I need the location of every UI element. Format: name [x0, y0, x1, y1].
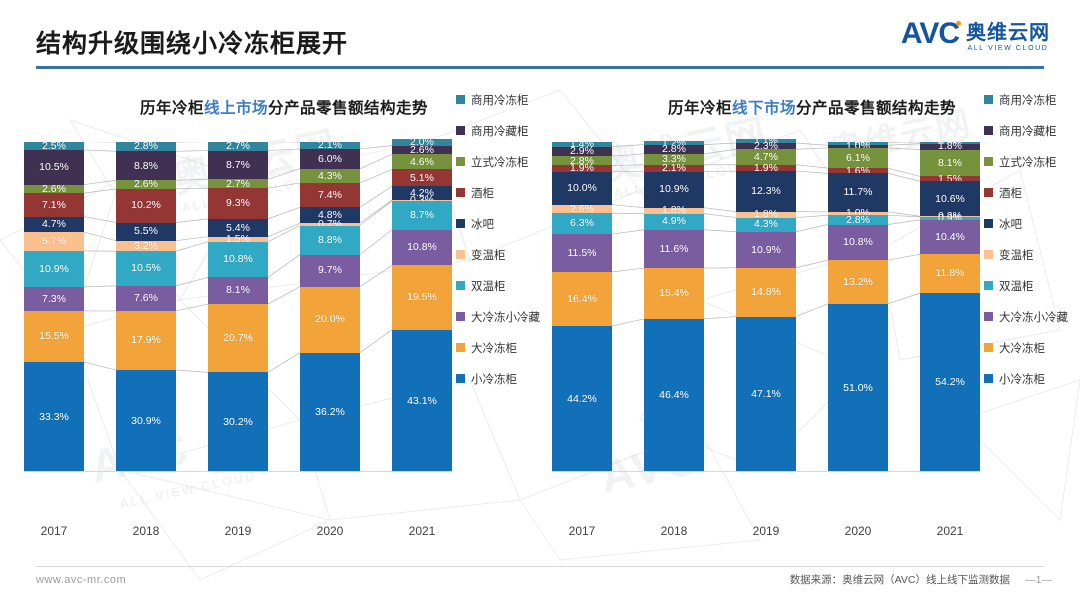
bar-segment[interactable]: 47.1%	[736, 317, 796, 472]
bar-segment[interactable]: 5.7%	[24, 232, 84, 251]
bar-segment[interactable]: 9.7%	[300, 255, 360, 287]
bar-segment-label: 10.9%	[39, 264, 69, 275]
x-axis-tick-label: 2021	[392, 524, 452, 538]
logo-mark: AVC	[901, 17, 959, 51]
bar-segment-label: 10.4%	[935, 232, 965, 243]
footer-divider	[36, 566, 1044, 567]
chart-panel-offline: 历年冷柜线下市场分产品零售额结构走势 1.4%2.9%2.8%1.9%10.0%…	[552, 96, 1072, 546]
bar-segment[interactable]: 4.6%	[392, 154, 452, 169]
chart-title-online: 历年冷柜线上市场分产品零售额结构走势	[24, 96, 544, 118]
bar-segment-label: 12.3%	[751, 186, 781, 197]
bar-segment-label: 30.9%	[131, 416, 161, 427]
stacked-bar: 1.2%2.8%3.3%2.1%10.9%1.8%4.9%11.6%15.4%4…	[644, 141, 704, 472]
x-axis-tick-label: 2021	[920, 524, 980, 538]
bar-segment[interactable]: 14.8%	[736, 268, 796, 317]
x-axis-labels-offline: 20172018201920202021	[552, 524, 980, 538]
bar-column[interactable]: 0.5%1.8%8.1%1.5%10.6%0.2%0.9%10.4%11.8%5…	[920, 142, 980, 472]
bar-segment-label: 33.3%	[39, 412, 69, 423]
bar-segment[interactable]: 10.5%	[24, 150, 84, 185]
chart-title-part-2: 分产品零售额结构走势	[796, 100, 956, 117]
bar-column[interactable]: 1.1%2.3%4.7%1.9%12.3%1.8%4.3%10.9%14.8%4…	[736, 142, 796, 472]
bar-segment[interactable]: 8.7%	[208, 151, 268, 180]
bar-segment[interactable]: 2.8%	[116, 142, 176, 151]
stacked-bar: 2.5%10.5%2.6%7.1%4.7%5.7%10.9%7.3%15.5%3…	[24, 142, 84, 472]
x-axis-tick-label: 2018	[644, 524, 704, 538]
chart-title-part-0: 历年冷柜	[140, 100, 204, 117]
bar-segment-label: 4.3%	[318, 171, 342, 182]
x-axis-offline	[552, 471, 980, 472]
x-axis-tick-label: 2019	[208, 524, 268, 538]
bar-segment[interactable]: 10.2%	[116, 189, 176, 223]
bar-segment-label: 14.8%	[751, 287, 781, 298]
bar-columns-offline: 1.4%2.9%2.8%1.9%10.0%2.6%6.3%11.5%16.4%4…	[552, 142, 980, 472]
plot-area-offline: 1.4%2.9%2.8%1.9%10.0%2.6%6.3%11.5%16.4%4…	[552, 142, 980, 472]
stacked-bar: 2.0%2.6%4.6%5.1%4.2%0.3%8.7%10.8%19.5%43…	[392, 139, 452, 472]
bar-segment-label: 11.6%	[660, 244, 689, 255]
logo-brand-en: ALL VIEW CLOUD	[966, 45, 1050, 52]
bar-segment-label: 16.4%	[567, 294, 597, 305]
logo-brand: 奥维云网 ALL VIEW CLOUD	[966, 16, 1050, 52]
bar-segment-label: 4.6%	[410, 157, 434, 168]
bar-segment[interactable]: 8.8%	[116, 151, 176, 180]
bar-segment[interactable]: 10.5%	[116, 251, 176, 286]
stacked-bar: 2.1%6.0%4.3%7.4%4.8%0.7%8.8%9.7%20.0%36.…	[300, 142, 360, 472]
bar-segment-label: 7.6%	[134, 293, 158, 304]
bar-segment[interactable]: 8.7%	[392, 201, 452, 230]
bar-segment-label: 51.0%	[843, 383, 873, 394]
bar-segment[interactable]: 2.7%	[208, 142, 268, 151]
bar-segment-label: 11.7%	[844, 187, 873, 198]
bar-segment-label: 13.2%	[843, 277, 873, 288]
stacked-bar: 2.7%8.7%2.7%9.3%5.4%1.5%10.8%8.1%20.7%30…	[208, 142, 268, 472]
bar-segment-label: 8.8%	[134, 161, 158, 172]
bar-segment[interactable]: 2.6%	[116, 180, 176, 189]
bar-segment[interactable]: 11.5%	[552, 234, 612, 272]
footer-url[interactable]: www.avc-mr.com	[36, 574, 126, 586]
stacked-bar: 0.5%1.8%8.1%1.5%10.6%0.2%0.9%10.4%11.8%5…	[920, 142, 980, 472]
bar-segment-label: 43.1%	[407, 396, 437, 407]
bar-segment-label: 5.4%	[226, 223, 250, 234]
bar-segment-label: 17.9%	[131, 335, 161, 346]
bar-segment[interactable]: 13.2%	[828, 260, 888, 304]
bar-segment[interactable]: 46.4%	[644, 319, 704, 472]
bar-segment-label: 10.9%	[659, 184, 689, 195]
chart-title-part-1: 线上市场	[204, 100, 268, 117]
bar-segment[interactable]: 10.8%	[208, 242, 268, 278]
bar-segment[interactable]: 7.6%	[116, 286, 176, 311]
bar-segment[interactable]: 43.1%	[392, 330, 452, 472]
bar-segment-label: 10.9%	[751, 245, 781, 256]
bar-segment-label: 36.2%	[315, 407, 345, 418]
bar-segment[interactable]: 8.1%	[208, 277, 268, 304]
bar-segment[interactable]: 5.5%	[116, 223, 176, 241]
bar-segment-label: 5.7%	[42, 236, 66, 247]
bar-column[interactable]: 2.0%2.6%4.6%5.1%4.2%0.3%8.7%10.8%19.5%43…	[392, 142, 452, 472]
bar-segment[interactable]: 2.6%	[24, 185, 84, 194]
bar-segment[interactable]: 9.3%	[208, 188, 268, 219]
header-divider	[36, 66, 1044, 69]
slide-root: 奥维云网 ALL VIEW CLOUD 奥维云网 ALL VIEW CLOUD …	[0, 0, 1080, 608]
x-axis-labels-online: 20172018201920202021	[24, 524, 452, 538]
bar-segment[interactable]: 15.4%	[644, 268, 704, 319]
stacked-bar: 1.0%1.0%6.1%1.6%11.7%1.0%2.8%10.8%13.2%5…	[828, 142, 888, 472]
bar-segment-label: 10.8%	[223, 254, 253, 265]
bar-segment[interactable]: 19.5%	[392, 265, 452, 329]
x-axis-tick-label: 2019	[736, 524, 796, 538]
bar-segment[interactable]: 11.8%	[920, 254, 980, 293]
bar-segment-label: 8.1%	[226, 285, 250, 296]
bar-segment-label: 11.5%	[568, 248, 597, 259]
bar-segment-label: 15.5%	[39, 331, 69, 342]
bar-segment[interactable]: 5.1%	[392, 169, 452, 186]
logo-dot-icon	[956, 21, 961, 26]
bar-segment[interactable]: 2.6%	[552, 205, 612, 214]
chart-title-part-2: 分产品零售额结构走势	[268, 100, 428, 117]
bar-column[interactable]: 2.8%8.8%2.6%10.2%5.5%3.2%10.5%7.6%17.9%3…	[116, 142, 176, 472]
bar-segment-label: 10.5%	[131, 263, 161, 274]
bar-segment[interactable]: 7.1%	[24, 193, 84, 216]
bar-segment-label: 7.1%	[42, 200, 66, 211]
logo-mark-text: AVC	[901, 17, 959, 50]
bar-column[interactable]: 1.4%2.9%2.8%1.9%10.0%2.6%6.3%11.5%16.4%4…	[552, 142, 612, 472]
x-axis-tick-label: 2020	[300, 524, 360, 538]
chart-title-part-1: 线下市场	[732, 100, 796, 117]
stacked-bar: 1.4%2.9%2.8%1.9%10.0%2.6%6.3%11.5%16.4%4…	[552, 142, 612, 472]
bar-segment-label: 9.7%	[318, 265, 342, 276]
bar-segment[interactable]: 44.2%	[552, 326, 612, 472]
bar-segment[interactable]: 16.4%	[552, 272, 612, 326]
stacked-bar: 1.1%2.3%4.7%1.9%12.3%1.8%4.3%10.9%14.8%4…	[736, 139, 796, 472]
x-axis-online	[24, 471, 452, 472]
bar-segment[interactable]: 10.9%	[736, 232, 796, 268]
x-axis-tick-label: 2018	[116, 524, 176, 538]
bar-segment-label: 15.4%	[659, 288, 689, 299]
plot-area-online: 2.5%10.5%2.6%7.1%4.7%5.7%10.9%7.3%15.5%3…	[24, 142, 452, 472]
bar-segment-label: 9.3%	[226, 198, 250, 209]
bar-column[interactable]: 1.0%1.0%6.1%1.6%11.7%1.0%2.8%10.8%13.2%5…	[828, 142, 888, 472]
slide-header: 结构升级围绕小冷冻柜展开 AVC 奥维云网 ALL VIEW CLOUD	[0, 0, 1080, 72]
bar-segment[interactable]: 10.8%	[828, 225, 888, 261]
bar-segment[interactable]: 2.1%	[300, 142, 360, 149]
bar-segment[interactable]: 10.4%	[920, 220, 980, 254]
bar-segment-label: 46.4%	[659, 390, 689, 401]
bar-segment[interactable]: 33.3%	[24, 362, 84, 472]
bar-segment[interactable]: 51.0%	[828, 304, 888, 472]
bar-segment-label: 4.3%	[754, 219, 778, 230]
bar-segment-label: 10.5%	[39, 162, 69, 173]
bar-segment[interactable]: 20.7%	[208, 304, 268, 372]
bar-segment[interactable]: 20.0%	[300, 287, 360, 353]
bar-segment[interactable]: 12.3%	[736, 171, 796, 212]
bar-segment[interactable]: 3.2%	[116, 241, 176, 252]
logo-brand-cn: 奥维云网	[966, 16, 1050, 45]
avc-logo: AVC 奥维云网 ALL VIEW CLOUD	[901, 16, 1050, 52]
bar-segment-label: 4.7%	[42, 219, 66, 230]
bar-segment-label: 54.2%	[935, 377, 965, 388]
bar-segment-label: 7.4%	[318, 190, 342, 201]
footer-page-number: —1—	[1025, 574, 1052, 586]
x-axis-tick-label: 2017	[552, 524, 612, 538]
bar-segment-label: 44.2%	[567, 394, 597, 405]
bar-segment[interactable]: 2.5%	[24, 142, 84, 150]
bar-segment[interactable]: 4.7%	[24, 217, 84, 233]
x-axis-tick-label: 2020	[828, 524, 888, 538]
bar-segment[interactable]: 2.7%	[208, 179, 268, 188]
bar-segment-label: 8.1%	[938, 158, 962, 169]
footer-source-note: 数据来源：奥维云网（AVC）线上线下监测数据	[790, 572, 1010, 587]
bar-segment[interactable]: 30.2%	[208, 372, 268, 472]
chart-title-offline: 历年冷柜线下市场分产品零售额结构走势	[552, 96, 1072, 118]
x-axis-tick-label: 2017	[24, 524, 84, 538]
bar-segment-label: 8.8%	[318, 235, 342, 246]
bar-segment-label: 5.1%	[410, 173, 434, 184]
bar-segment-label: 4.7%	[754, 152, 778, 163]
bar-segment-label: 11.8%	[936, 268, 965, 279]
bar-segment-label: 6.1%	[846, 153, 870, 164]
stacked-bar: 2.8%8.8%2.6%10.2%5.5%3.2%10.5%7.6%17.9%3…	[116, 142, 176, 472]
bar-column[interactable]: 1.2%2.8%3.3%2.1%10.9%1.8%4.9%11.6%15.4%4…	[644, 142, 704, 472]
bar-segment[interactable]: 2.8%	[828, 215, 888, 224]
bar-segment[interactable]: 4.9%	[644, 214, 704, 230]
bar-segment[interactable]: 7.4%	[300, 183, 360, 207]
bar-segment[interactable]: 4.3%	[736, 218, 796, 232]
chart-title-part-0: 历年冷柜	[668, 100, 732, 117]
bar-column[interactable]: 2.7%8.7%2.7%9.3%5.4%1.5%10.8%8.1%20.7%30…	[208, 142, 268, 472]
bar-segment-label: 6.0%	[318, 154, 342, 165]
bar-segment-label: 4.9%	[662, 216, 686, 227]
bar-segment[interactable]: 11.6%	[644, 230, 704, 268]
bar-segment-label: 47.1%	[751, 389, 781, 400]
bar-segment[interactable]: 15.5%	[24, 311, 84, 362]
chart-panel-online: 历年冷柜线上市场分产品零售额结构走势 2.5%10.5%2.6%7.1%4.7%…	[24, 96, 544, 546]
bar-segment-label: 6.3%	[570, 218, 594, 229]
bar-segment[interactable]: 7.3%	[24, 287, 84, 311]
bar-column[interactable]: 2.1%6.0%4.3%7.4%4.8%0.7%8.8%9.7%20.0%36.…	[300, 142, 360, 472]
bar-segment-label: 7.3%	[42, 294, 66, 305]
bar-segment-label: 10.8%	[843, 237, 873, 248]
bar-segment[interactable]: 54.2%	[920, 293, 980, 472]
bar-segment-label: 30.2%	[223, 417, 253, 428]
bar-segment-label: 10.8%	[407, 242, 437, 253]
bar-segment-label: 5.5%	[134, 226, 158, 237]
bar-segment-label: 10.0%	[567, 183, 597, 194]
bar-segment[interactable]: 10.8%	[392, 230, 452, 266]
bar-segment-label: 19.5%	[407, 292, 437, 303]
bar-segment-label: 8.7%	[410, 210, 434, 221]
bar-segment[interactable]: 2.6%	[392, 146, 452, 155]
bar-segment-label: 10.2%	[131, 200, 161, 211]
bar-segment[interactable]: 17.9%	[116, 311, 176, 370]
bar-segment-label: 3.2%	[134, 241, 158, 252]
bar-segment-label: 10.6%	[935, 194, 965, 205]
bar-columns-online: 2.5%10.5%2.6%7.1%4.7%5.7%10.9%7.3%15.5%3…	[24, 142, 452, 472]
bar-segment-label: 20.0%	[315, 314, 345, 325]
bar-segment[interactable]: 10.9%	[644, 172, 704, 208]
bar-segment[interactable]: 2.1%	[644, 165, 704, 172]
bar-segment-label: 8.7%	[226, 160, 250, 171]
bar-segment[interactable]: 30.9%	[116, 370, 176, 472]
bar-segment[interactable]: 10.0%	[552, 172, 612, 205]
bar-segment-label: 20.7%	[223, 333, 253, 344]
page-title: 结构升级围绕小冷冻柜展开	[36, 24, 348, 60]
bar-segment[interactable]: 6.3%	[552, 213, 612, 234]
bar-segment[interactable]: 6.0%	[300, 149, 360, 169]
bar-segment[interactable]: 8.8%	[300, 226, 360, 255]
bar-segment[interactable]: 10.9%	[24, 251, 84, 287]
bar-column[interactable]: 2.5%10.5%2.6%7.1%4.7%5.7%10.9%7.3%15.5%3…	[24, 142, 84, 472]
bar-segment[interactable]: 4.3%	[300, 169, 360, 183]
bar-segment[interactable]: 36.2%	[300, 353, 360, 472]
